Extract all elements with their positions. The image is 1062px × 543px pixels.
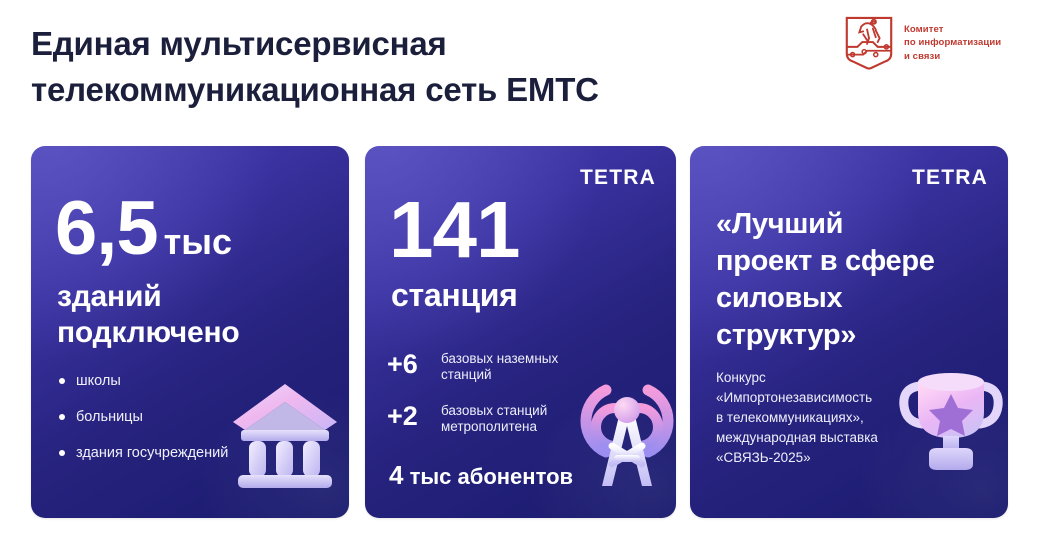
buildings-value-unit: тыс bbox=[164, 221, 232, 262]
award-description-line-4: международная выставка bbox=[716, 428, 918, 448]
plus-value: +2 bbox=[387, 401, 441, 431]
award-quote-line-4: структур» bbox=[716, 317, 984, 354]
header: Единая мультисервисная телекоммуникацион… bbox=[0, 0, 1062, 130]
plus-value: +6 bbox=[387, 349, 441, 379]
list-item: школы bbox=[59, 373, 228, 389]
list-item: здания госучреждений bbox=[59, 445, 228, 461]
buildings-subtitle-line-2: подключено bbox=[57, 315, 240, 351]
infographic-slide: Единая мультисервисная телекоммуникацион… bbox=[0, 0, 1062, 543]
antenna-tower-icon bbox=[568, 360, 676, 492]
award-description: Конкурс «Импортонезависимость в телекомм… bbox=[716, 368, 918, 468]
logo-text-line-2: по информатизации bbox=[904, 36, 1001, 50]
card-buildings-connected: 6,5тыс зданий подключено школы больницы … bbox=[31, 146, 349, 518]
cards-row: 6,5тыс зданий подключено школы больницы … bbox=[0, 146, 1062, 518]
award-description-line-1: Конкурс bbox=[716, 368, 918, 388]
committee-logo-text: Комитет по информатизации и связи bbox=[904, 23, 1001, 64]
plus-label: базовых станций метрополитена bbox=[441, 401, 547, 435]
award-quote: «Лучший проект в сфере силовых структур» bbox=[716, 206, 984, 354]
card-tetra-stations: TETRA 141 станция +6 базовых наземных ст… bbox=[365, 146, 676, 518]
card-tetra-award: TETRA «Лучший проект в сфере силовых стр… bbox=[690, 146, 1008, 518]
plus-label: базовых наземных станций bbox=[441, 349, 558, 383]
plus-label-line-1: базовых наземных bbox=[441, 351, 558, 367]
plus-label-line-2: станций bbox=[441, 367, 558, 383]
award-description-line-2: «Импортонезависимость bbox=[716, 388, 918, 408]
plus-label-line-2: метрополитена bbox=[441, 419, 547, 435]
stations-value: 141 bbox=[389, 192, 519, 268]
plus-label-line-1: базовых станций bbox=[441, 403, 547, 419]
logo-text-line-1: Комитет bbox=[904, 23, 1001, 37]
logo-text-line-3: и связи bbox=[904, 50, 1001, 64]
page-title: Единая мультисервисная телекоммуникацион… bbox=[31, 21, 831, 113]
subscribers-label: тыс абонентов bbox=[410, 464, 573, 489]
award-quote-line-3: силовых bbox=[716, 280, 984, 317]
committee-shield-emblem-icon bbox=[843, 15, 895, 71]
buildings-value: 6,5тыс bbox=[55, 192, 232, 279]
buildings-bullet-list: школы больницы здания госучреждений bbox=[59, 373, 228, 481]
buildings-subtitle: зданий подключено bbox=[57, 279, 240, 351]
award-description-line-3: в телекоммуникациях», bbox=[716, 408, 918, 428]
page-title-line-1: Единая мультисервисная bbox=[31, 21, 831, 67]
committee-logo: Комитет по информатизации и связи bbox=[843, 15, 1001, 71]
stations-subtitle: станция bbox=[391, 277, 518, 313]
status-badge: TETRA bbox=[580, 166, 656, 190]
buildings-value-number: 6,5 bbox=[55, 186, 158, 271]
subscribers-number: 4 bbox=[389, 460, 403, 490]
status-badge: TETRA bbox=[912, 166, 988, 190]
buildings-subtitle-line-1: зданий bbox=[57, 279, 240, 315]
list-item: больницы bbox=[59, 409, 228, 425]
award-description-line-5: «СВЯЗЬ-2025» bbox=[716, 448, 918, 468]
subscribers-total: 4 тыс абонентов bbox=[389, 462, 573, 490]
award-quote-line-1: «Лучший bbox=[716, 206, 984, 243]
trophy-cup-icon bbox=[896, 358, 1006, 478]
award-quote-line-2: проект в сфере bbox=[716, 243, 984, 280]
bank-building-icon bbox=[229, 376, 341, 494]
page-title-line-2: телекоммуникационная сеть ЕМТС bbox=[31, 67, 831, 113]
